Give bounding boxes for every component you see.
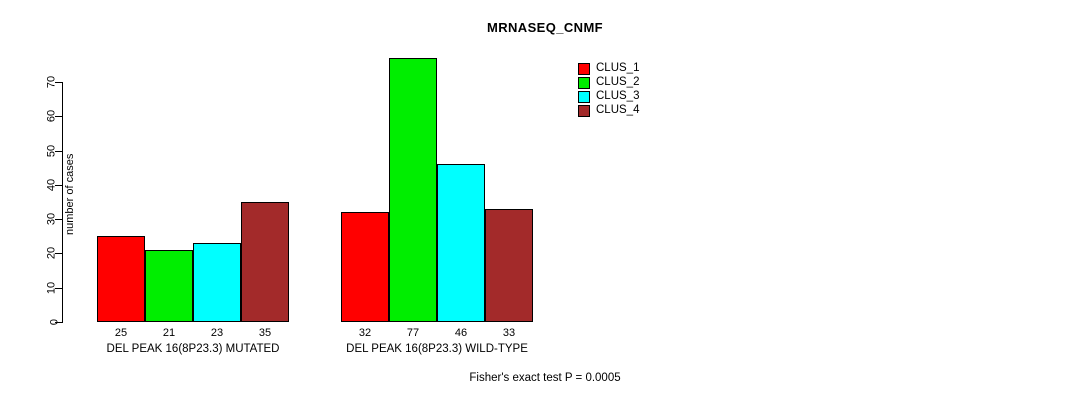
- legend: CLUS_1CLUS_2CLUS_3CLUS_4: [578, 62, 639, 118]
- bar-value-label: 35: [259, 327, 271, 339]
- legend-swatch-icon: [578, 91, 590, 103]
- page-title: MRNASEQ_CNMF: [0, 20, 1090, 35]
- bar-clus_1-group1[interactable]: [97, 236, 145, 322]
- group-label: DEL PEAK 16(8P23.3) WILD-TYPE: [346, 343, 528, 355]
- legend-swatch-icon: [578, 77, 590, 89]
- bar-clus_3-group2[interactable]: [437, 164, 485, 322]
- bar-clus_4-group1[interactable]: [241, 202, 289, 322]
- legend-swatch-icon: [578, 105, 590, 117]
- bars-layer: [62, 50, 562, 322]
- bar-value-label: 33: [503, 327, 515, 339]
- statistical-test-annotation: Fisher's exact test P = 0.0005: [0, 372, 1090, 384]
- plot-area: 010203040506070 number of cases: [62, 50, 562, 322]
- legend-item-label: CLUS_4: [596, 105, 639, 117]
- bar-value-label: 77: [407, 327, 419, 339]
- y-axis-tick-label: 20: [46, 247, 57, 259]
- bar-clus_1-group2[interactable]: [341, 212, 389, 322]
- chart-canvas: MRNASEQ_CNMF 010203040506070 number of c…: [0, 0, 1090, 400]
- bar-value-label: 25: [115, 327, 127, 339]
- y-axis-tick-label: 50: [46, 144, 57, 156]
- y-axis-tick-label: 70: [46, 76, 57, 88]
- legend-item-clus_4[interactable]: CLUS_4: [578, 104, 639, 118]
- y-axis-tick-label: 60: [46, 110, 57, 122]
- legend-item-label: CLUS_3: [596, 91, 639, 103]
- bar-value-label: 32: [359, 327, 371, 339]
- y-axis-tick-label: 40: [46, 179, 57, 191]
- y-axis-tick-label: 0: [49, 319, 60, 325]
- group-label: DEL PEAK 16(8P23.3) MUTATED: [107, 343, 280, 355]
- y-axis-tick-label: 10: [46, 282, 57, 294]
- bar-clus_4-group2[interactable]: [485, 209, 533, 322]
- legend-item-clus_2[interactable]: CLUS_2: [578, 76, 639, 90]
- bar-value-label: 23: [211, 327, 223, 339]
- bar-clus_2-group2[interactable]: [389, 58, 437, 322]
- legend-item-label: CLUS_1: [596, 63, 639, 75]
- bar-value-label: 46: [455, 327, 467, 339]
- legend-swatch-icon: [578, 63, 590, 75]
- bar-value-label: 21: [163, 327, 175, 339]
- bar-clus_2-group1[interactable]: [145, 250, 193, 322]
- legend-item-clus_1[interactable]: CLUS_1: [578, 62, 639, 76]
- legend-item-label: CLUS_2: [596, 77, 639, 89]
- legend-item-clus_3[interactable]: CLUS_3: [578, 90, 639, 104]
- bar-clus_3-group1[interactable]: [193, 243, 241, 322]
- y-axis-tick-label: 30: [46, 213, 57, 225]
